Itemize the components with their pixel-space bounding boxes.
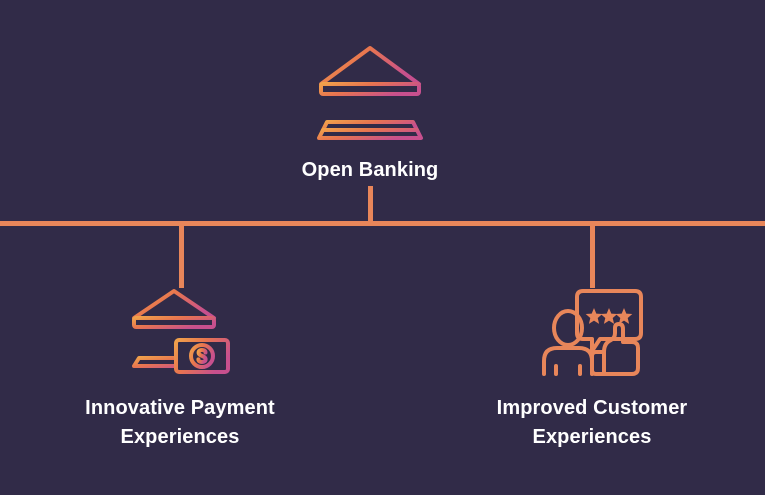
connector-stem-root [368, 186, 373, 224]
rating-stars [586, 308, 633, 324]
bank-building-icon [313, 42, 427, 142]
node-improved-customer-experiences[interactable]: Improved Customer Experiences [442, 286, 742, 452]
node-open-banking[interactable]: Open Banking [220, 42, 520, 185]
bank-with-money-icon [128, 286, 232, 378]
node-label-innovative-payment-experiences: Innovative Payment Experiences [85, 394, 275, 452]
node-label-improved-customer-experiences: Improved Customer Experiences [497, 394, 688, 452]
diagram-canvas: Open Banking [0, 0, 765, 495]
connector-stem-right-branch [590, 223, 595, 288]
customer-review-thumbs-up-icon [538, 286, 646, 378]
node-innovative-payment-experiences[interactable]: Innovative Payment Experiences [30, 286, 330, 452]
horizontal-connector-line [0, 221, 765, 226]
connector-stem-left-branch [179, 223, 184, 288]
node-label-open-banking: Open Banking [302, 156, 439, 185]
